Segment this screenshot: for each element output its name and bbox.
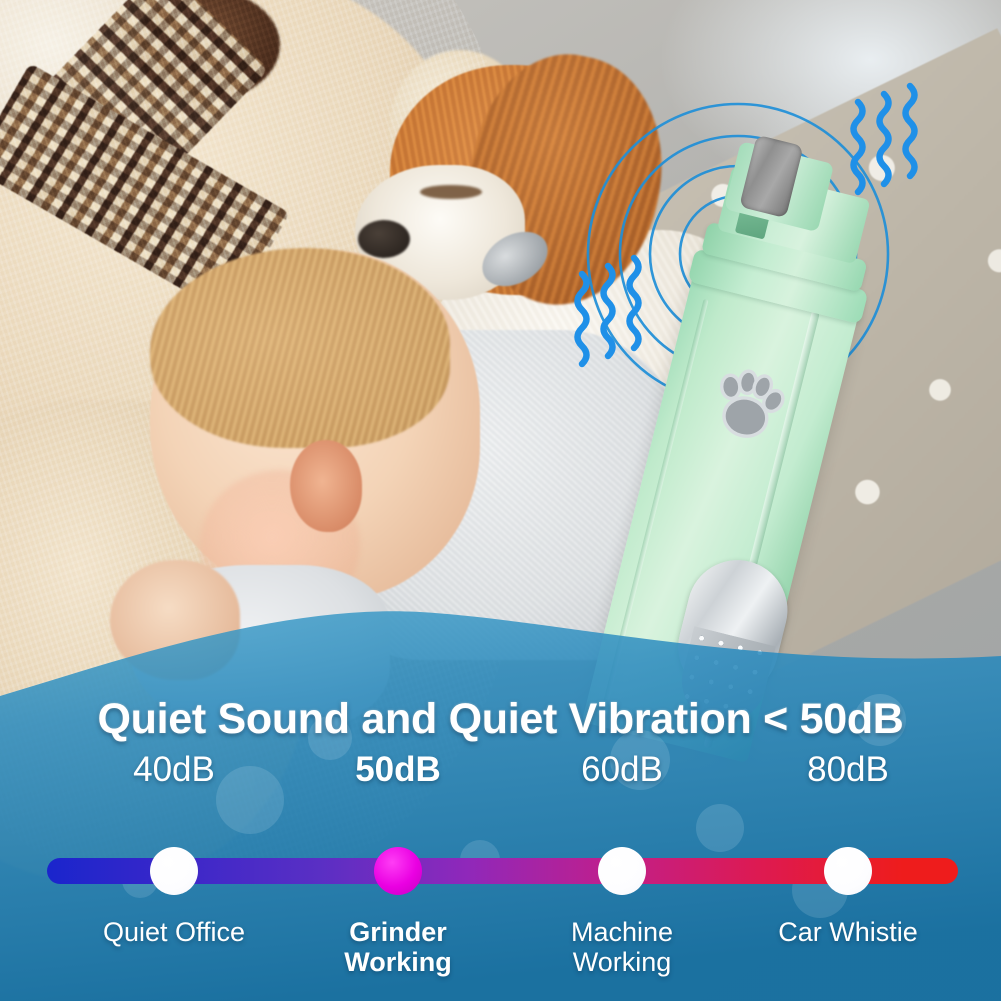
scale-value-1: 50dB bbox=[298, 750, 498, 790]
scale-label-2: Machine Working bbox=[507, 917, 737, 977]
scale-label-0: Quiet Office bbox=[59, 917, 289, 947]
scale-marker-0[interactable] bbox=[150, 847, 198, 895]
scale-label-1-line1: Grinder bbox=[349, 917, 447, 947]
scale-value-2: 60dB bbox=[522, 750, 722, 790]
scale-value-0: 40dB bbox=[74, 750, 274, 790]
scale-marker-3[interactable] bbox=[824, 847, 872, 895]
scale-value-3: 80dB bbox=[748, 750, 948, 790]
product-feature-image: Quiet Sound and Quiet Vibration < 50dB 4… bbox=[0, 0, 1001, 1001]
banner-headline: Quiet Sound and Quiet Vibration < 50dB bbox=[0, 695, 1001, 744]
scale-marker-2[interactable] bbox=[598, 847, 646, 895]
scale-label-2-line1: Machine bbox=[571, 917, 673, 947]
scale-label-2-line2: Working bbox=[573, 947, 672, 977]
scale-label-1: Grinder Working bbox=[283, 917, 513, 977]
info-banner: Quiet Sound and Quiet Vibration < 50dB 4… bbox=[0, 560, 1001, 1001]
scale-label-3: Car Whistie bbox=[733, 917, 963, 947]
scale-marker-1[interactable] bbox=[374, 847, 422, 895]
scale-label-1-line2: Working bbox=[344, 947, 452, 977]
